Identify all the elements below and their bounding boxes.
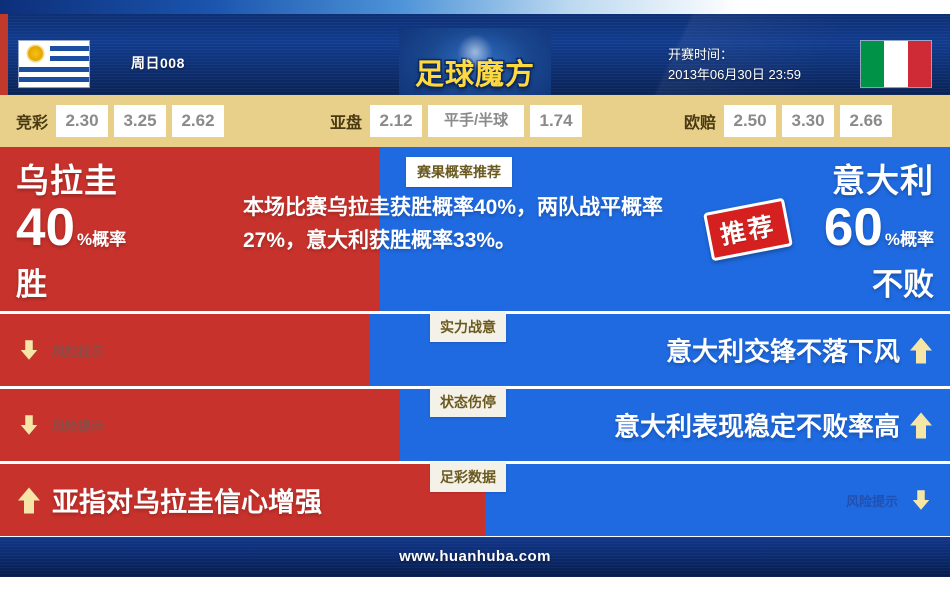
odds-cell[interactable]: 3.30 [782,105,834,137]
odds-group-oupei: 欧赔 2.50 3.30 2.66 [684,105,898,137]
site-logo[interactable]: 足球魔方 [399,28,551,95]
header-red-accent [0,14,8,95]
infographic-page: 周日008 足球魔方 开赛时间： 2013年06月30日 23:59 竞彩 2.… [0,0,950,594]
row-message-text: 亚指对乌拉圭信心增强 [52,481,322,520]
risk-label: 风险提示 [846,491,898,510]
site-logo-text: 足球魔方 [399,51,551,93]
odds-group-label: 欧赔 [684,109,716,133]
match-number: 周日008 [131,53,185,73]
header-bar: 周日008 足球魔方 开赛时间： 2013年06月30日 23:59 [0,14,950,95]
kickoff-label: 开赛时间： [668,45,801,65]
up-arrow-icon [910,412,932,438]
footer-bar: www.huanhuba.com [0,537,950,577]
bottom-white-margin [0,577,950,594]
odds-cell[interactable]: 2.66 [840,105,892,137]
uruguay-flag-icon [18,40,90,88]
site-url[interactable]: www.huanhuba.com [0,548,950,565]
away-outcome-label: 不败 [684,267,934,303]
kickoff-info: 开赛时间： 2013年06月30日 23:59 [668,45,801,85]
row-left-risk-note: 风险提示 [18,412,104,438]
odds-group-jingcai: 竞彩 2.30 3.25 2.62 [16,105,230,137]
tab-strength-intent[interactable]: 实力战意 [430,312,506,342]
down-arrow-icon [21,415,38,435]
away-probability-unit: %概率 [885,230,934,249]
home-team-name: 乌拉圭 [16,161,246,201]
home-outcome-label: 胜 [16,267,246,303]
sun-of-may-icon [28,46,43,61]
odds-group-label: 亚盘 [330,109,362,133]
tab-lottery-data[interactable]: 足彩数据 [430,462,506,492]
row-message-text: 意大利表现稳定不败率高 [614,407,900,444]
kickoff-time: 2013年06月30日 23:59 [668,65,801,85]
home-probability-unit: %概率 [77,230,126,249]
down-arrow-icon [21,340,38,360]
top-gradient-strip [0,0,950,14]
odds-group-yapan: 亚盘 2.12 平手/半球 1.74 [330,105,588,137]
odds-cell[interactable]: 2.12 [370,105,422,137]
odds-cell[interactable]: 3.25 [114,105,166,137]
row-right-risk-note: 风险提示 [846,487,932,513]
row-message: 意大利表现稳定不败率高 [614,407,932,444]
up-arrow-icon [910,337,932,363]
tab-result-probability[interactable]: 赛果概率推荐 [406,157,512,187]
row-left-risk-note: 风险提示 [18,337,104,363]
odds-bar: 竞彩 2.30 3.25 2.62 亚盘 2.12 平手/半球 1.74 欧赔 … [0,95,950,147]
odds-group-label: 竞彩 [16,109,48,133]
odds-cell[interactable]: 2.50 [724,105,776,137]
home-probability-value: 40%概率 [16,201,246,267]
home-probability-number: 40 [16,198,75,257]
row-message: 意大利交锋不落下风 [666,332,932,369]
italy-flag-icon [860,40,932,88]
tab-form-injury[interactable]: 状态伤停 [430,387,506,417]
away-team-name: 意大利 [684,161,934,201]
risk-label: 风险提示 [52,341,104,360]
away-probability-number: 60 [824,198,883,257]
odds-cell-handicap[interactable]: 平手/半球 [428,105,524,137]
up-arrow-icon [18,487,40,513]
down-arrow-icon [913,490,930,510]
odds-cell[interactable]: 1.74 [530,105,582,137]
risk-label: 风险提示 [52,416,104,435]
odds-cell[interactable]: 2.62 [172,105,224,137]
home-probability-block: 乌拉圭 40%概率 胜 [16,161,246,303]
odds-cell[interactable]: 2.30 [56,105,108,137]
row-message: 亚指对乌拉圭信心增强 [18,481,322,520]
probability-description: 本场比赛乌拉圭获胜概率40%，两队战平概率27%，意大利获胜概率33%。 [243,191,683,257]
row-message-text: 意大利交锋不落下风 [666,332,900,369]
